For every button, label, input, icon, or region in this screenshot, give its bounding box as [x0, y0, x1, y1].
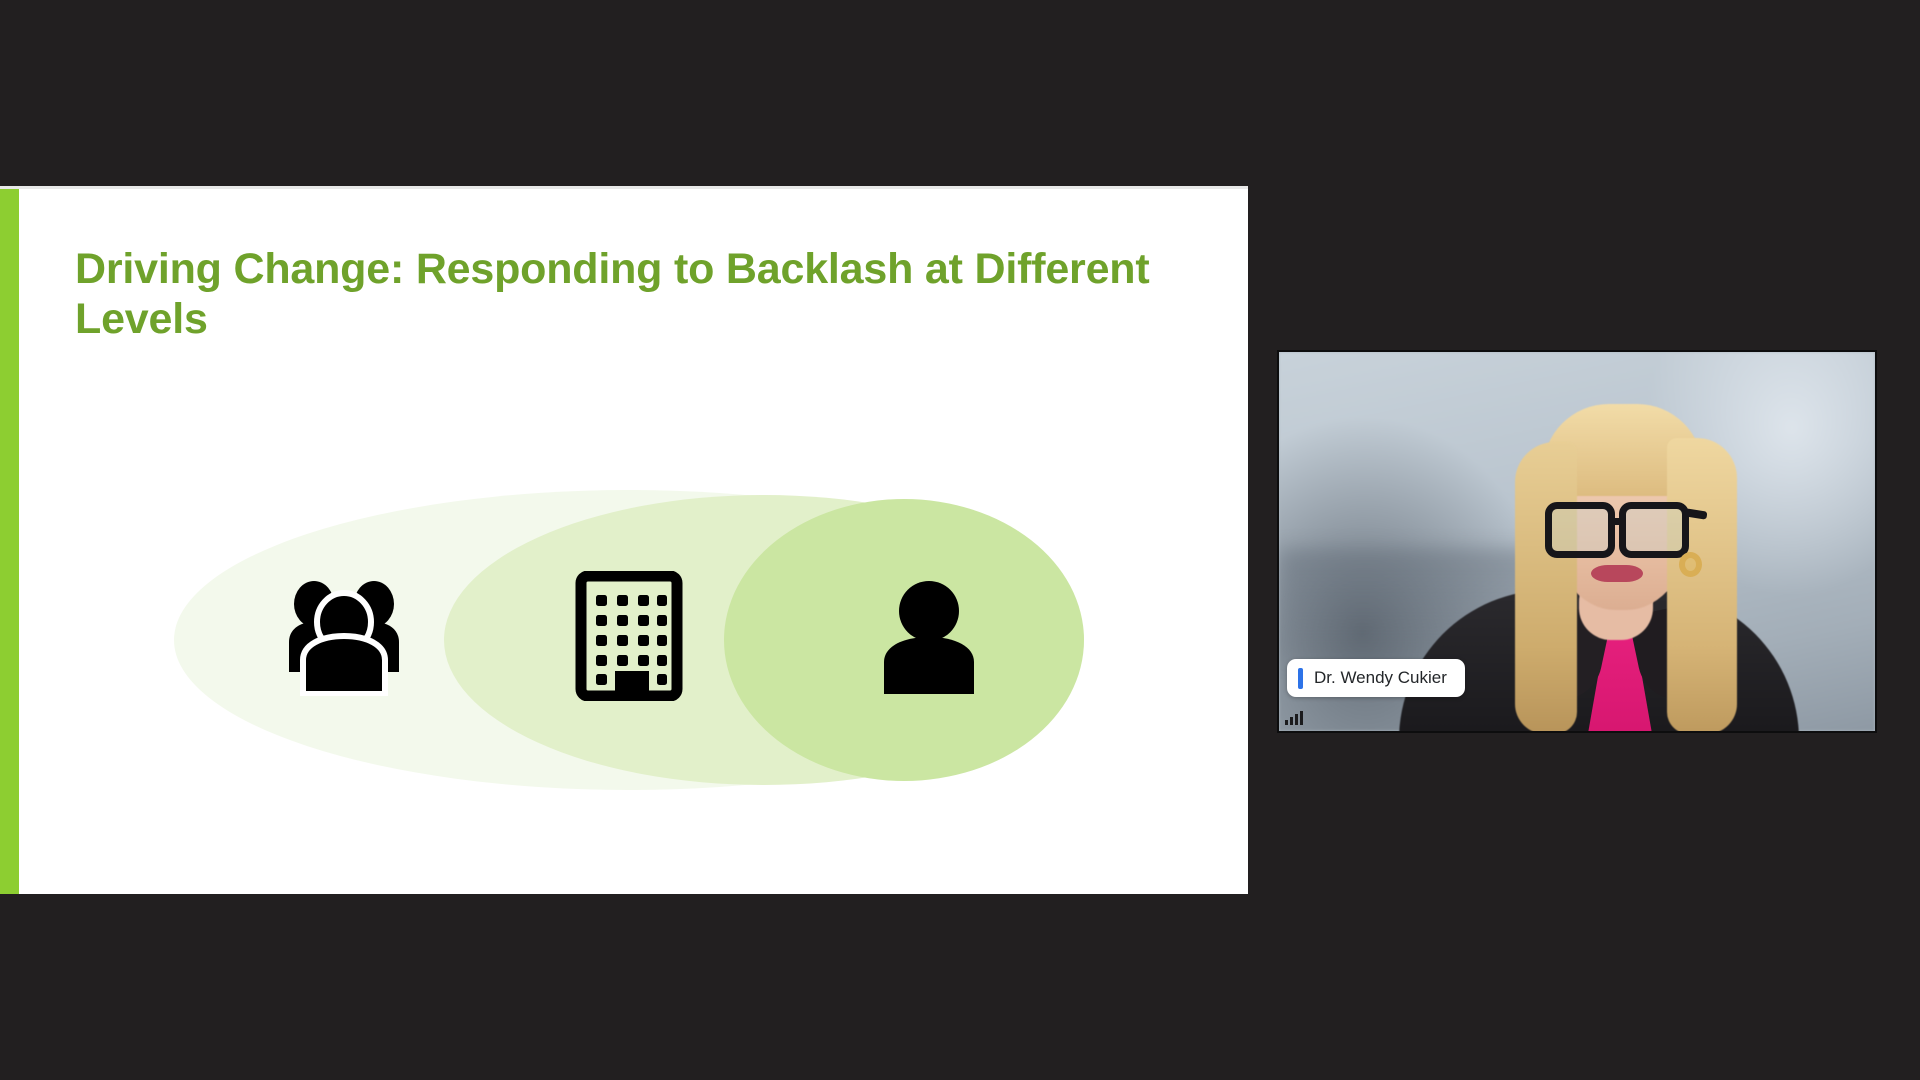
eyeglasses-bridge	[1611, 518, 1625, 525]
eyeglasses-lens-right	[1619, 502, 1689, 558]
slide-title: Driving Change: Responding to Backlash a…	[75, 244, 1185, 345]
presentation-slide: Driving Change: Responding to Backlash a…	[0, 186, 1248, 894]
participant-name: Dr. Wendy Cukier	[1314, 668, 1447, 688]
badge-accent-bar	[1298, 668, 1303, 689]
eyeglasses-lens-left	[1545, 502, 1615, 558]
hair-left	[1515, 442, 1577, 731]
single-person-icon	[874, 576, 984, 696]
office-building-icon	[574, 571, 684, 701]
signal-bars-icon	[1285, 710, 1303, 725]
video-feed: Dr. Wendy Cukier	[1279, 352, 1875, 731]
hair-right	[1667, 438, 1737, 731]
gold-earring	[1679, 552, 1702, 577]
slide-top-divider	[0, 186, 1248, 189]
screen-root: Driving Change: Responding to Backlash a…	[0, 0, 1920, 1080]
participant-name-badge: Dr. Wendy Cukier	[1287, 659, 1465, 697]
group-of-people-icon	[279, 576, 409, 696]
levels-diagram	[19, 371, 1248, 791]
slide-accent-bar	[0, 189, 19, 894]
video-tile[interactable]: Dr. Wendy Cukier	[1277, 350, 1877, 733]
mouth	[1591, 565, 1643, 582]
